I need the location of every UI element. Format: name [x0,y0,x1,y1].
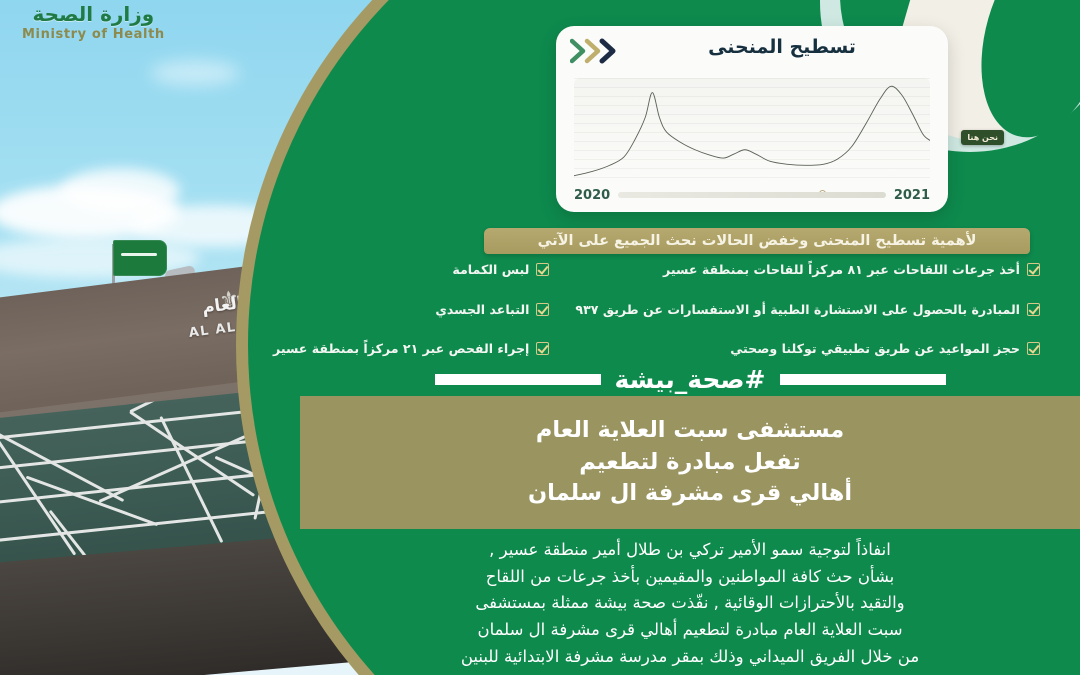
checkmark-icon [1027,303,1040,316]
list-item: المبادرة بالحصول على الاستشارة الطبية أو… [575,302,1040,317]
body-line-1: انفاذاً لتوجية سمو الأمير تركي بن طلال أ… [334,537,1046,564]
body-line-3: والتقيد بالأحترازات الوقائية , نفّذت صحة… [334,590,1046,617]
checkmark-icon [536,342,549,355]
bullet-label: التباعد الجسدي [435,302,529,317]
list-item: التباعد الجسدي [435,302,549,317]
ministry-of-health-logo: وزارة الصحة Ministry of Health [22,4,165,41]
checkmark-icon [1027,342,1040,355]
we-are-here-label: نحن هنا [967,133,998,142]
hashtag-rule-left [435,374,601,385]
x-tick-2020: 2020 [574,188,610,203]
list-item: إجراء الفحص عبر ٢١ مركزاً بمنطقة عسير [273,341,549,356]
checkmark-icon [536,303,549,316]
hashtag-bar: #صحة_بيشة [300,362,1080,396]
headline-block: مستشفى سبت العلاية العام تفعل مبادرة لتط… [300,396,1080,529]
prevention-bullets: أخذ جرعات اللقاحات عبر ٨١ مركزاً للقاحات… [300,262,1040,356]
we-are-here-badge: نحن هنا [961,130,1004,145]
bullet-label: المبادرة بالحصول على الاستشارة الطبية أو… [575,302,1020,317]
flatten-the-curve-card: تسطيح المنحنى نحن هنا 2021 2020 [556,26,948,212]
axis-track [618,192,886,198]
double-chevron-icon [570,38,626,64]
body-line-4: سبت العلاية العام مبادرة لتطعيم أهالي قر… [334,617,1046,644]
x-tick-2021: 2021 [894,188,930,203]
ministry-name-arabic: وزارة الصحة [22,4,165,24]
headline-line-1: مستشفى سبت العلاية العام [536,416,844,446]
bullet-label: لبس الكمامة [452,262,529,277]
chart-title: تسطيح المنحنى [636,36,928,58]
saudi-flag-icon [113,240,167,276]
call-to-action-ribbon: لأهمية تسطيح المنحنى وخفض الحالات نحث ال… [484,228,1030,254]
epidemic-curve-line [574,78,930,182]
poster-root: ⚜ مستشفى سبت العلاية العام AL ALAYA GENE… [0,0,1080,675]
headline-line-3: أهالي قرى مشرفة ال سلمان [528,479,852,509]
body-paragraph: انفاذاً لتوجية سمو الأمير تركي بن طلال أ… [300,529,1080,675]
bullet-label: أخذ جرعات اللقاحات عبر ٨١ مركزاً للقاحات… [663,262,1020,277]
ribbon-text: لأهمية تسطيح المنحنى وخفض الحالات نحث ال… [538,233,977,249]
body-line-5: من خلال الفريق الميداني وذلك بمقر مدرسة … [334,644,1046,671]
chart-x-axis: 2021 2020 [574,186,930,204]
body-line-2: بشأن حث كافة المواطنين والمقيمين بأخذ جر… [334,564,1046,591]
cloud [150,60,240,86]
ministry-name-english: Ministry of Health [22,28,165,41]
list-item: حجز المواعيد عن طريق تطبيقي توكلنا وصحتي [730,341,1040,356]
checkmark-icon [1027,263,1040,276]
hashtag-rule-right [780,374,946,385]
list-item: أخذ جرعات اللقاحات عبر ٨١ مركزاً للقاحات… [663,262,1040,277]
bullet-label: حجز المواعيد عن طريق تطبيقي توكلنا وصحتي [730,341,1020,356]
cloud [60,168,180,214]
headline-line-2: تفعل مبادرة لتطعيم [579,448,801,478]
epidemic-curve-plot [574,78,930,182]
list-item: لبس الكمامة [452,262,549,277]
checkmark-icon [536,263,549,276]
bullet-label: إجراء الفحص عبر ٢١ مركزاً بمنطقة عسير [273,341,529,356]
bullets-right-column: أخذ جرعات اللقاحات عبر ٨١ مركزاً للقاحات… [575,262,1040,356]
hashtag-text: #صحة_بيشة [615,365,766,394]
bullets-left-column: لبس الكمامة التباعد الجسدي إجراء الفحص ع… [273,262,567,356]
